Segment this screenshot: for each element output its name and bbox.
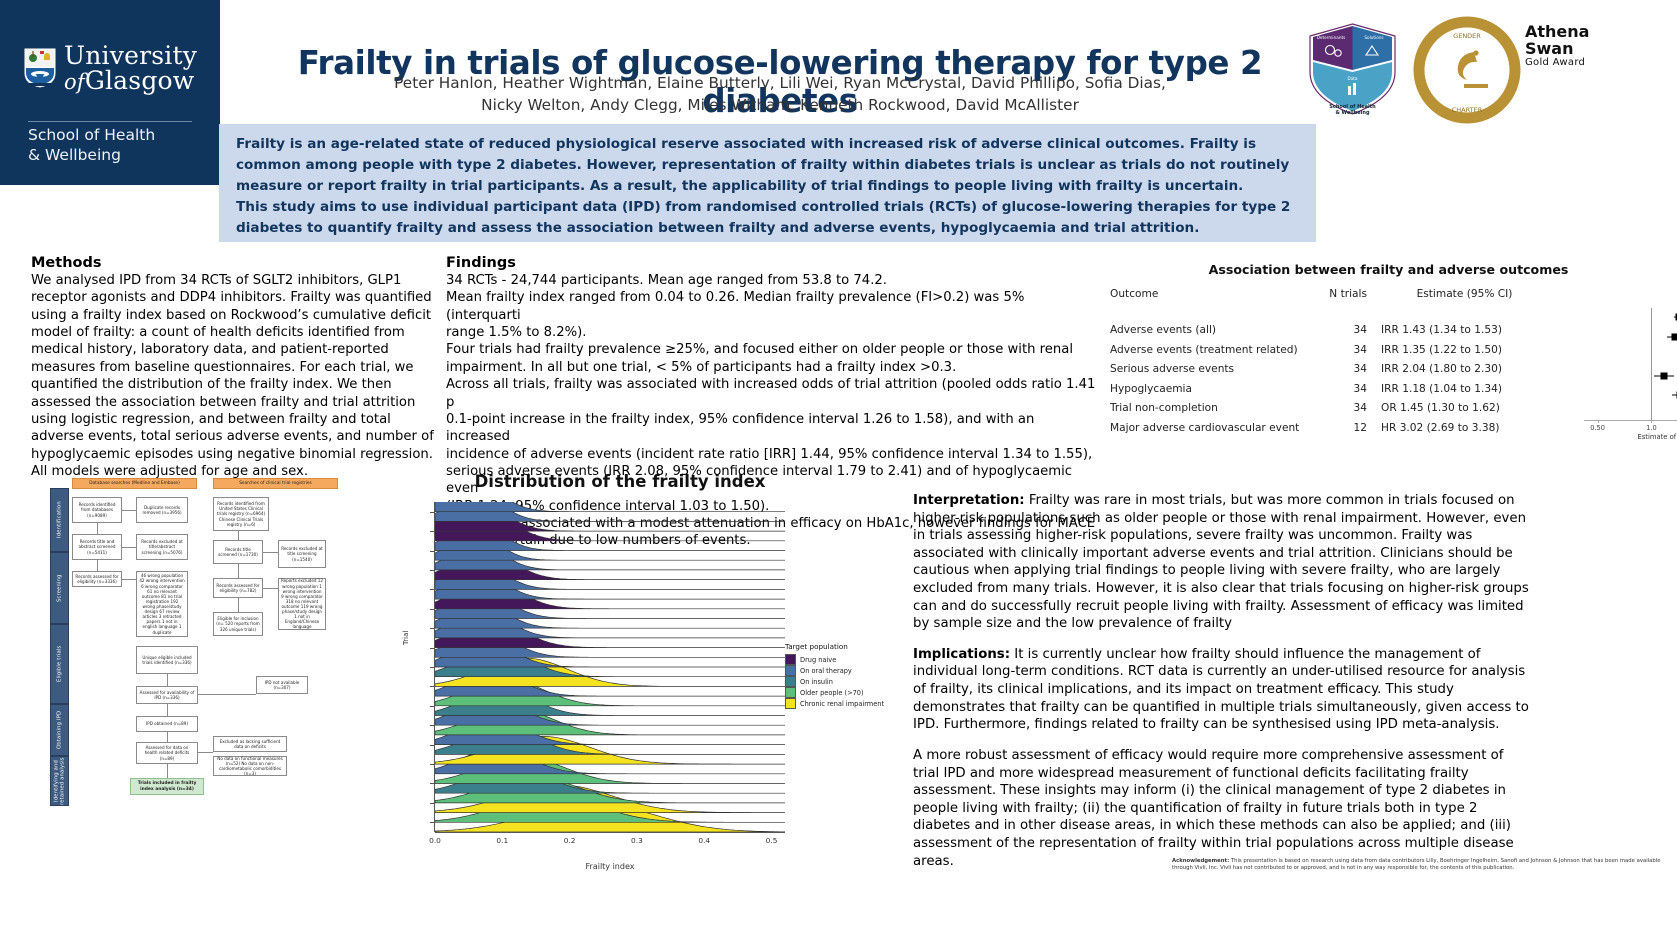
flow-box-title-abstract-screened: Records title and abstract screened (n=5… [72, 534, 122, 560]
flow-connector-9 [167, 764, 168, 778]
athena-ring-text-2: CHARTER [1452, 106, 1483, 114]
athena-swan-gold-award-badge: GENDER CHARTER [1412, 16, 1522, 124]
cell-outcome: Trial non-completion [1110, 402, 1305, 414]
university-branding-block: University ofGlasgow School of Health & … [0, 0, 220, 185]
cell-outcome: Serious adverse events [1110, 363, 1305, 375]
table-row: Adverse events (all)34IRR 1.43 (1.34 to … [1110, 321, 1570, 341]
cell-ntrials: 34 [1305, 383, 1381, 395]
legend-label: Drug naive [800, 656, 836, 664]
table-row: Trial non-completion34OR 1.45 (1.30 to 1… [1110, 399, 1570, 419]
axis-tick [430, 686, 434, 687]
shield-caption-2: & Wellbeing [1335, 110, 1370, 116]
ridgeline-legend: Target population Drug naiveOn oral ther… [785, 642, 884, 709]
findings-line-8: incidence of adverse events (incident ra… [446, 446, 1096, 463]
findings-line-4: Four trials had frailty prevalence ≥25%,… [446, 341, 1096, 358]
axis-tick [430, 667, 434, 668]
forest-plot-panel: Association between frailty and adverse … [1100, 258, 1677, 448]
flow-box-ipd-not-available: IPD not available (n=307) [256, 676, 308, 694]
column-header-estimate: Estimate (95% CI) [1377, 288, 1552, 300]
flow-box-excluded-title-abstract: Records excluded at title/abstract scree… [136, 534, 188, 560]
interpretation-paragraph: Interpretation: Frailty was rare in most… [913, 492, 1533, 633]
cell-outcome: Adverse events (all) [1110, 324, 1305, 336]
abstract-panel: Frailty is an age-related state of reduc… [219, 124, 1316, 242]
forest-plot-x-label: Estimate of association [1584, 433, 1677, 441]
flow-box-records-identified-registry: Records identified from United States Cl… [213, 497, 269, 531]
axis-tick-label: 0.2 [564, 836, 576, 845]
implications-label: Implications: [913, 647, 1010, 662]
flow-connector-12 [122, 579, 136, 580]
axis-tick-label: 0.5 [766, 836, 778, 845]
flow-box-records-identified-db: Records identified from databases (n=908… [72, 497, 122, 523]
ridgeline-x-axis-label: Frailty index [435, 862, 785, 871]
legend-item: Chronic renal impairment [785, 698, 884, 709]
forest-plot-title: Association between frailty and adverse … [1100, 262, 1677, 277]
flow-box-duplicates-removed: Duplicate records removed (n=3956) [136, 497, 188, 523]
flow-box-registry-searches: Searches of clinical trial registries [213, 478, 338, 489]
branding-divider [28, 121, 192, 122]
author-line-1: Peter Hanlon, Heather Wightman, Elaine B… [250, 72, 1310, 94]
flow-box-database-searches: Database searches (Medline and Embase) [72, 478, 197, 489]
flow-band-eligible: Eligible trials [50, 624, 69, 704]
flow-box-excluded-details: No data on functional measures (n=52) No… [213, 756, 287, 776]
ridgeline-legend-items: Drug naiveOn oral therapyOn insulinOlder… [785, 654, 884, 709]
shield-segment-1-label: Determinants [1317, 35, 1346, 40]
flow-connector-3 [238, 531, 239, 540]
school-name-line2: & Wellbeing [28, 146, 155, 166]
legend-item: Drug naive [785, 654, 884, 665]
flow-connector-7 [167, 704, 168, 716]
shield-segment-3-label: Data [1348, 76, 1358, 81]
axis-tick [430, 706, 434, 707]
flow-box-eligibility-exclusions-db: 46 wrong population 42 wrong interventio… [136, 571, 188, 637]
abstract-paragraph-1: Frailty is an age-related state of reduc… [236, 134, 1300, 197]
cell-outcome: Major adverse cardiovascular event [1110, 422, 1305, 434]
axis-tick-label: 1.0 [1646, 424, 1657, 432]
implications-paragraph: Implications: It is currently unclear ho… [913, 646, 1533, 734]
cell-estimate: HR 3.02 (2.69 to 3.38) [1381, 422, 1556, 434]
table-row: Major adverse cardiovascular event12HR 3… [1110, 418, 1570, 438]
axis-tick [430, 512, 434, 513]
school-name: School of Health & Wellbeing [28, 126, 155, 166]
flow-band-identifying-retained: Identifying and retained analysis [50, 756, 69, 806]
flow-connector-4 [238, 564, 239, 578]
author-line-2: Nicky Welton, Andy Clegg, Miles Witham, … [250, 94, 1310, 116]
flow-connector-14 [263, 588, 278, 589]
findings-line-3: range 1.5% to 8.2%). [446, 324, 1096, 341]
ridgeline-chart: Distribution of the frailty index Trial … [400, 470, 900, 890]
legend-item: On insulin [785, 676, 884, 687]
flow-connector-8 [167, 732, 168, 742]
findings-line-1: 34 RCTs - 24,744 participants. Mean age … [446, 272, 1096, 289]
flow-band-screening: Screening [50, 552, 69, 624]
cell-estimate: OR 1.45 (1.30 to 1.62) [1381, 402, 1556, 414]
flow-box-assessed-deficit-data: Assessed for data on health related defi… [136, 742, 198, 764]
cell-ntrials: 34 [1305, 402, 1381, 414]
interpretation-section: Interpretation: Frailty was rare in most… [913, 492, 1533, 883]
axis-tick [430, 531, 434, 532]
school-name-line1: School of Health [28, 126, 155, 146]
flow-box-assessed-eligibility-db: Records assessed for eligibility (n=3336… [72, 571, 122, 587]
findings-line-2: Mean frailty index ranged from 0.04 to 0… [446, 289, 1096, 324]
interpretation-text: Frailty was rare in most trials, but was… [913, 493, 1529, 631]
flow-box-title-screened: Records title screened (n=1730) [213, 540, 263, 564]
legend-swatch [785, 665, 796, 676]
athena-swan-label: Athena Swan Gold Award [1525, 24, 1589, 68]
axis-tick [430, 648, 434, 649]
legend-item: On oral therapy [785, 665, 884, 676]
axis-tick [430, 609, 434, 610]
glasgow-crest-icon [23, 47, 57, 89]
axis-tick-label: 0.4 [698, 836, 710, 845]
column-header-outcome: Outcome [1110, 288, 1305, 300]
forest-plot-table: Outcome N trials Estimate (95% CI) Adver… [1110, 284, 1570, 438]
flow-connector-10 [122, 510, 136, 511]
athena-ring-text: GENDER [1453, 32, 1481, 40]
athena-line3: Gold Award [1525, 58, 1589, 69]
methods-heading: Methods [31, 255, 446, 271]
point-estimate-marker [1671, 333, 1677, 340]
density-ridge [435, 502, 785, 512]
axis-tick-label: 0.1 [496, 836, 508, 845]
cell-outcome: Adverse events (treatment related) [1110, 344, 1305, 356]
findings-heading: Findings [446, 255, 1096, 271]
table-row: Adverse events (treatment related)34IRR … [1110, 340, 1570, 360]
ridgeline-title: Distribution of the frailty index [400, 472, 840, 491]
prisma-flow-diagram: Identification Screening Eligible trials… [50, 478, 395, 808]
author-list: Peter Hanlon, Heather Wightman, Elaine B… [250, 72, 1310, 116]
findings-line-6: Across all trials, frailty was associate… [446, 376, 1096, 411]
cell-ntrials: 12 [1305, 422, 1381, 434]
cell-ntrials: 34 [1305, 344, 1381, 356]
ridgeline-y-axis-label: Trial [402, 631, 410, 645]
flow-connector-16 [198, 752, 213, 753]
interpretation-label: Interpretation: [913, 493, 1025, 508]
flow-box-excluded-title: Records excluded at title screening (n=1… [278, 540, 326, 568]
point-estimate-marker [1661, 372, 1668, 379]
university-word-line1: University [64, 43, 197, 68]
poster-canvas: University ofGlasgow School of Health & … [0, 0, 1677, 943]
cell-estimate: IRR 2.04 (1.80 to 2.30) [1381, 363, 1556, 375]
axis-tick [430, 764, 434, 765]
cell-ntrials: 34 [1305, 324, 1381, 336]
legend-swatch [785, 698, 796, 709]
axis-tick [430, 783, 434, 784]
axis-tick [430, 628, 434, 629]
cell-estimate: IRR 1.43 (1.34 to 1.53) [1381, 324, 1556, 336]
flow-box-assessed-ipd-availability: Assessed for availability of IPD (n=336) [136, 686, 198, 704]
further-work-paragraph: A more robust assessment of efficacy wou… [913, 747, 1533, 870]
axis-tick [430, 551, 434, 552]
flow-connector-5 [238, 598, 239, 612]
cell-estimate: IRR 1.35 (1.22 to 1.50) [1381, 344, 1556, 356]
flow-connector-13 [263, 552, 278, 553]
acknowledgement-label: Acknowledgement: [1172, 858, 1229, 864]
null-effect-line [1651, 308, 1652, 420]
cell-estimate: IRR 1.18 (1.04 to 1.34) [1381, 383, 1556, 395]
methods-section: Methods We analysed IPD from 34 RCTs of … [31, 255, 446, 480]
flow-box-assessed-eligibility-registry: Records assessed for eligibility (n=782) [213, 578, 263, 598]
findings-line-5: impairment. In all but one trial, < 5% o… [446, 359, 1096, 376]
acknowledgement: Acknowledgement: This presentation is ba… [1172, 858, 1677, 872]
flow-band-obtaining-ipd: Obtaining IPD [50, 704, 69, 756]
cell-outcome: Hypoglycaemia [1110, 383, 1305, 395]
flow-connector-2 [97, 560, 98, 571]
ridgeline-legend-title: Target population [785, 642, 884, 651]
forest-plot-graph: 0.501.02.04.0 Estimate of association [1584, 308, 1677, 433]
legend-label: Older people (>70) [800, 689, 864, 697]
flow-connector-15 [198, 694, 256, 695]
shield-segment-2-label: Solutions [1364, 35, 1383, 40]
legend-label: Chronic renal impairment [800, 700, 884, 708]
axis-tick [430, 589, 434, 590]
axis-tick [430, 803, 434, 804]
axis-tick-label: 0.3 [631, 836, 643, 845]
flow-connector-11 [122, 547, 136, 548]
ridgeline-x-axis [435, 832, 785, 833]
axis-tick [430, 570, 434, 571]
flow-connector-1 [97, 523, 98, 534]
acknowledgement-text: This presentation is based on research u… [1172, 858, 1661, 871]
legend-swatch [785, 654, 796, 665]
forest-plot-header-row: Outcome N trials Estimate (95% CI) [1110, 284, 1570, 304]
axis-tick [430, 725, 434, 726]
university-wordmark: University ofGlasgow [64, 43, 197, 93]
methods-text: We analysed IPD from 34 RCTs of SGLT2 in… [31, 272, 446, 480]
axis-tick [430, 822, 434, 823]
flow-box-eligible-for-inclusion: Eligible for inclusion (n= 520 reports f… [213, 612, 263, 636]
school-of-health-shield-badge: Determinants Solutions Data School of He… [1305, 22, 1400, 122]
flow-box-reports-excluded: Reports excluded 12 wrong population 1 w… [278, 578, 326, 630]
cell-ntrials: 34 [1305, 363, 1381, 375]
axis-tick [430, 745, 434, 746]
flow-box-ipd-obtained: IPD obtained (n=89) [136, 716, 198, 732]
athena-line2: Swan [1525, 41, 1589, 58]
ridgeline-density-curves [435, 502, 785, 832]
university-logo: University ofGlasgow [0, 0, 220, 135]
legend-label: On insulin [800, 678, 833, 686]
abstract-paragraph-2: This study aims to use individual partic… [236, 197, 1300, 239]
flow-box-excluded-insufficient: Excluded as lacking sufficient data on d… [213, 736, 287, 752]
flow-box-trials-included: Trials included in frailty index analysi… [130, 778, 204, 795]
axis-tick-label: 0.50 [1590, 424, 1605, 432]
flow-connector-6 [167, 674, 168, 686]
legend-label: On oral therapy [800, 667, 852, 675]
legend-item: Older people (>70) [785, 687, 884, 698]
table-row: Serious adverse events34IRR 2.04 (1.80 t… [1110, 360, 1570, 380]
findings-line-7: 0.1-point increase in the frailty index,… [446, 411, 1096, 446]
table-row: Hypoglycaemia34IRR 1.18 (1.04 to 1.34) [1110, 379, 1570, 399]
flow-band-identification: Identification [50, 488, 69, 552]
axis-tick-label: 0.0 [429, 836, 441, 845]
axis-tick [1651, 420, 1652, 423]
university-word-line2: ofGlasgow [64, 68, 197, 93]
column-header-ntrials: N trials [1305, 288, 1377, 300]
flow-box-unique-eligible-trials: Unique eligible included trials identifi… [136, 646, 198, 674]
legend-swatch [785, 676, 796, 687]
legend-swatch [785, 687, 796, 698]
axis-tick [1598, 420, 1599, 423]
forest-plot-rows: Adverse events (all)34IRR 1.43 (1.34 to … [1110, 321, 1570, 438]
